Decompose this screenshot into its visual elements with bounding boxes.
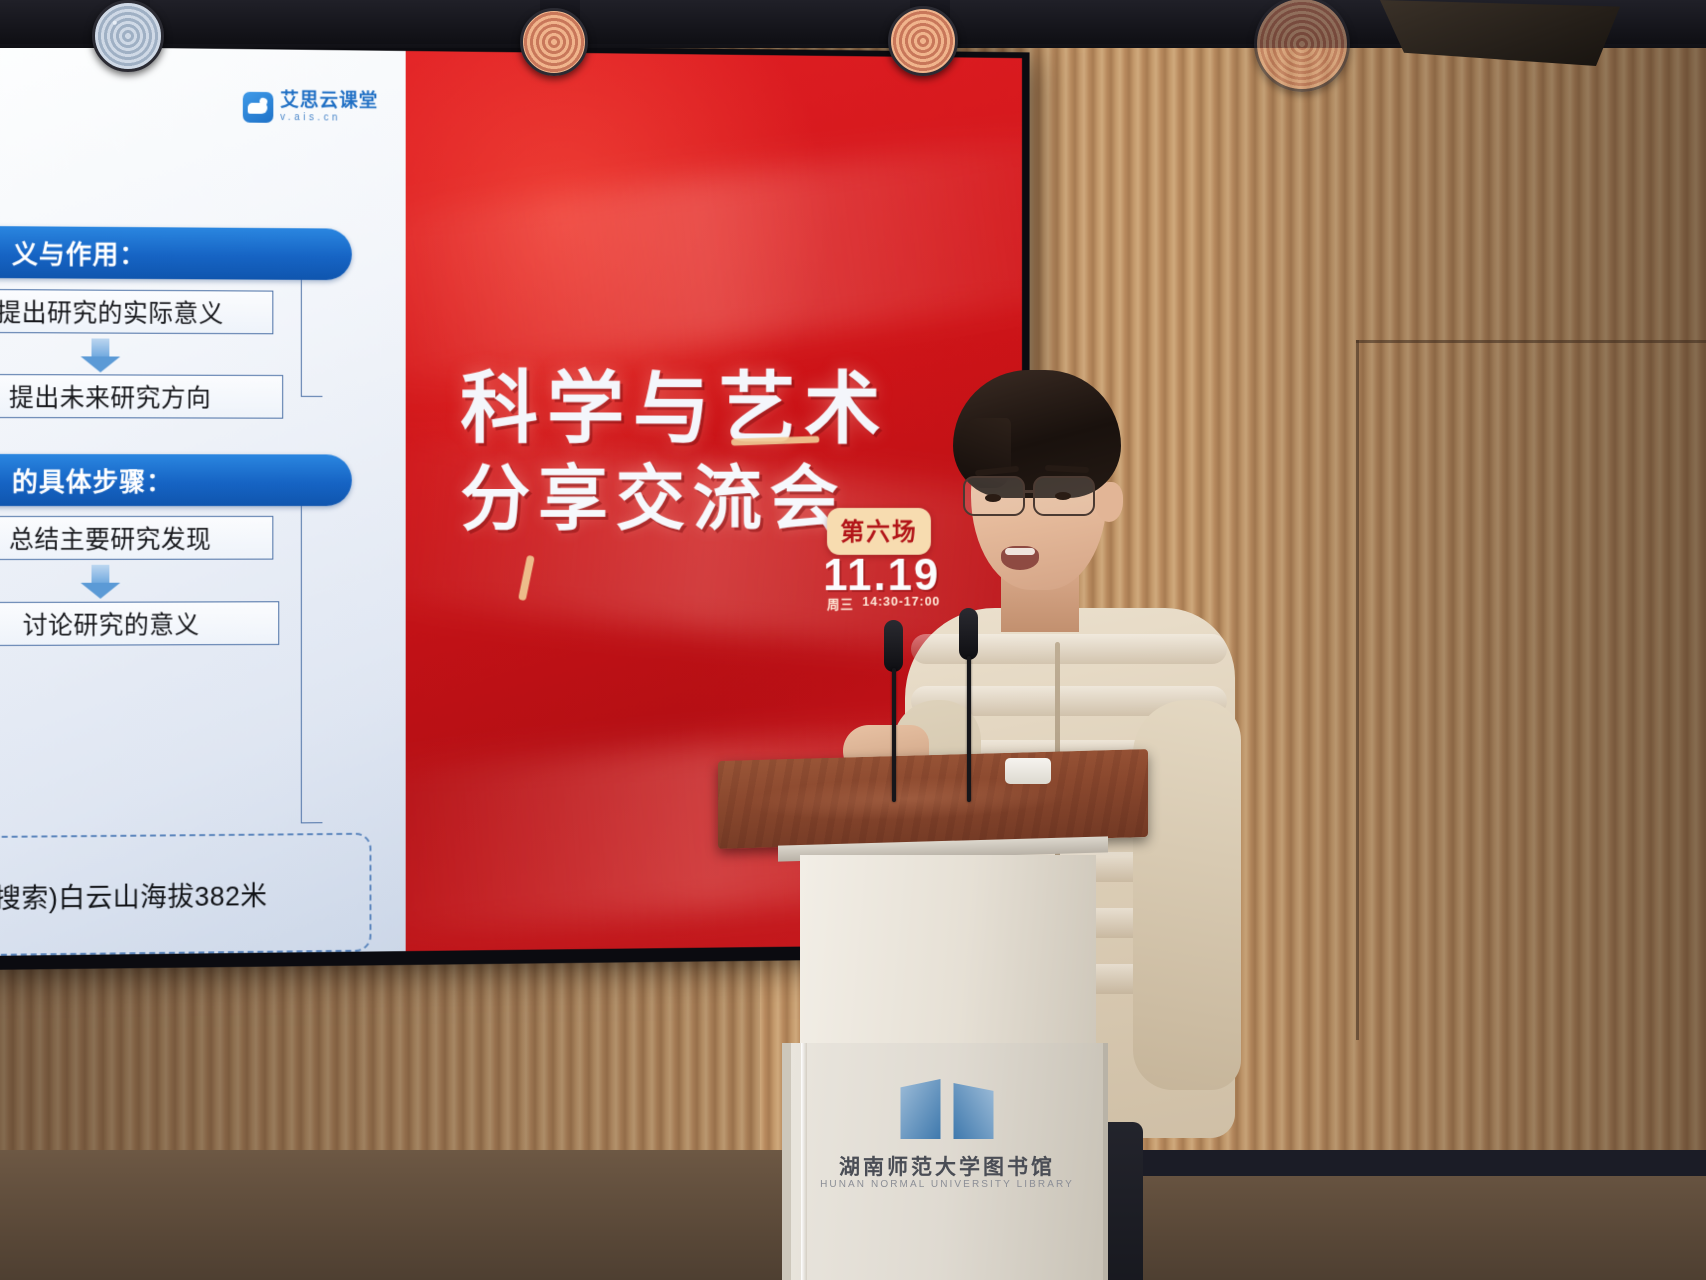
presentation-slide: 艾思云课堂 v.ais.cn 义与作用： 提出研究的实际意义 提出未来研究方向 … [0, 46, 406, 956]
presenter-arm-right [1133, 700, 1241, 1090]
slide-note-text: 搜索)白云山海拔382米 [0, 874, 267, 916]
presenter-eye-left [985, 494, 1001, 502]
wall-seam-vertical [1356, 340, 1359, 1040]
flow-rail-1 [301, 280, 323, 397]
presentation-hall-photo: 艾思云课堂 v.ais.cn 义与作用： 提出研究的实际意义 提出未来研究方向 … [0, 0, 1706, 1280]
wall-shadow-right [1186, 28, 1706, 1280]
slide-step-1-2: 提出未来研究方向 [0, 374, 283, 419]
presenter-mouth [1001, 546, 1039, 570]
poster-weekday: 周三 [827, 594, 854, 613]
lectern-top-surface [718, 749, 1148, 849]
down-arrow-icon-1 [81, 338, 121, 372]
slide-step-2-2: 讨论研究的意义 [0, 601, 279, 646]
moving-head-light-icon [1254, 0, 1350, 92]
lectern-base-panel: 湖南师范大学图书馆 HUNAN NORMAL UNIVERSITY LIBRAR… [782, 1043, 1108, 1280]
brand-logo: 艾思云课堂 v.ais.cn [243, 91, 378, 124]
venue-name-cn: 湖南师范大学图书馆 [839, 1151, 1055, 1181]
baseboard-right [1140, 1150, 1706, 1176]
microphone-2 [955, 608, 985, 798]
brand-name: 艾思云课堂 [280, 91, 378, 111]
slide-step-2-1: 总结主要研究发现 [0, 516, 273, 560]
par-light-blue-icon [92, 0, 164, 72]
presenter-eye-right [1055, 492, 1071, 500]
slide-step-1-1: 提出研究的实际意义 [0, 289, 273, 334]
lectern: 湖南师范大学图书馆 HUNAN NORMAL UNIVERSITY LIBRAR… [718, 755, 1148, 1280]
wall-seam-horizontal [1356, 340, 1706, 343]
slide-note-box: 搜索)白云山海拔382米 [0, 833, 371, 956]
water-cup [1005, 758, 1051, 784]
slide-section-header-1: 义与作用： [0, 226, 352, 281]
par-light-amber-icon-1 [520, 8, 588, 76]
whale-logo-icon [243, 91, 274, 122]
poster-silk-sheen-1 [406, 127, 1022, 387]
microphone-1 [880, 620, 910, 800]
down-arrow-icon-2 [81, 565, 121, 599]
lectern-body [800, 855, 1096, 1045]
par-light-amber-icon-2 [888, 6, 958, 76]
brand-url: v.ais.cn [280, 113, 378, 124]
library-building-icon [901, 1079, 994, 1139]
flow-rail-2 [301, 506, 323, 823]
venue-name-en: HUNAN NORMAL UNIVERSITY LIBRARY [820, 1179, 1074, 1190]
slide-section-header-2: 的具体步骤： [0, 454, 352, 506]
